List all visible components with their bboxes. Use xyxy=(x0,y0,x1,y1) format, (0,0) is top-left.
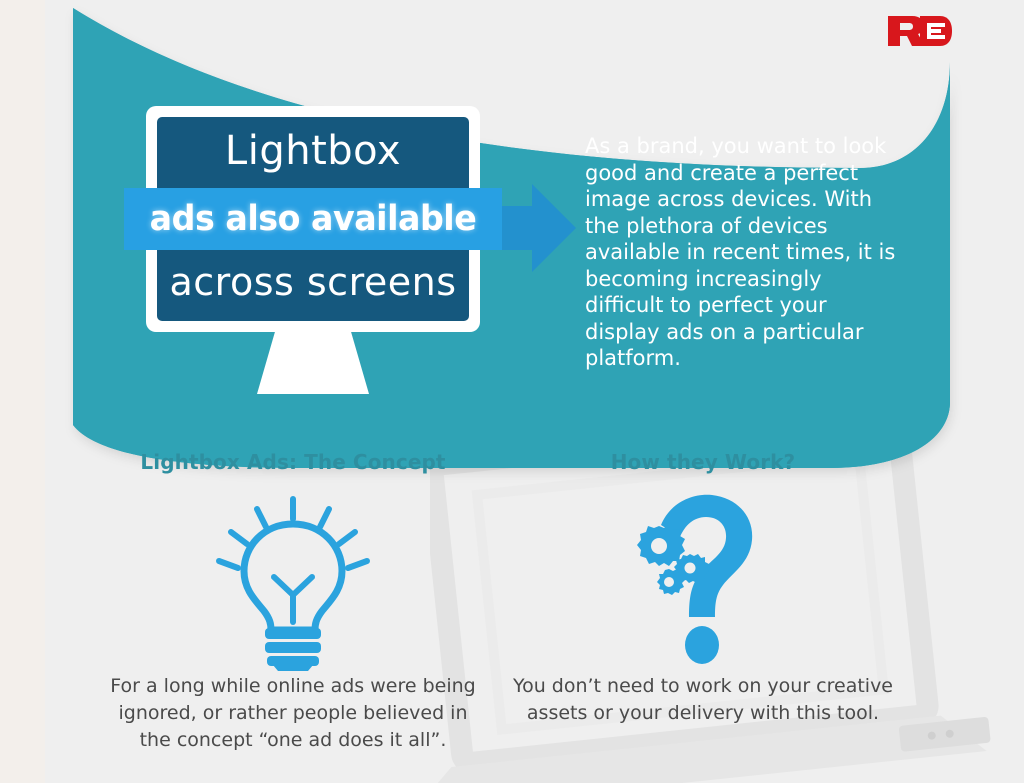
monitor-neck xyxy=(275,332,351,360)
section-concept-icon-wrap xyxy=(83,488,503,673)
section-how-it-works: How they Work? xyxy=(493,450,913,727)
headline-line-1: Lightbox xyxy=(146,128,480,174)
hero-paragraph: As a brand, you want to look good and cr… xyxy=(585,133,905,372)
section-concept: Lightbox Ads: The Concept xyxy=(83,450,503,754)
section-how-it-works-body: You don’t need to work on your creative … xyxy=(493,673,913,727)
question-mark-gears-icon xyxy=(628,491,778,671)
section-how-it-works-title: How they Work? xyxy=(493,450,913,474)
lightbulb-icon xyxy=(208,491,378,671)
section-concept-body: For a long while online ads were being i… xyxy=(83,673,503,754)
red-logo xyxy=(886,14,952,48)
headline-band: ads also available xyxy=(124,188,502,250)
headline-line-2: ads also available xyxy=(133,188,492,250)
infographic-canvas: Lightbox ads also available across scree… xyxy=(0,0,1024,783)
section-concept-title: Lightbox Ads: The Concept xyxy=(83,450,503,474)
headline-line-3: across screens xyxy=(146,260,480,304)
section-how-it-works-icon-wrap xyxy=(493,488,913,673)
